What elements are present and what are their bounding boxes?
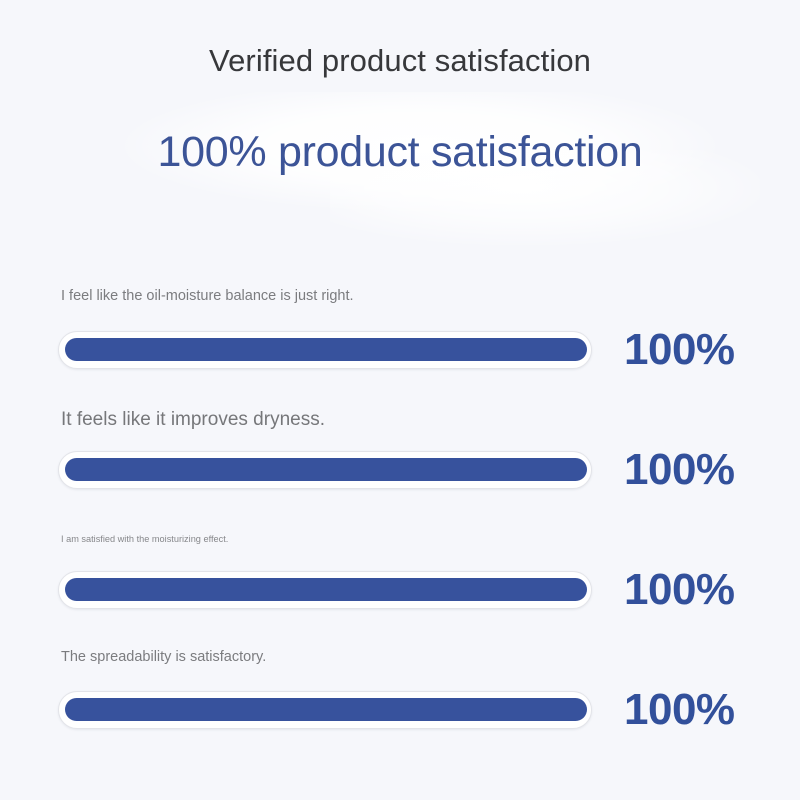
progress-fill bbox=[65, 338, 587, 361]
progress-track bbox=[58, 571, 592, 609]
bar-line: 100% bbox=[0, 568, 800, 616]
page-subtitle: 100% product satisfaction bbox=[0, 125, 800, 179]
progress-track bbox=[58, 691, 592, 729]
progress-track bbox=[58, 451, 592, 489]
satisfaction-row: I am satisfied with the moisturizing eff… bbox=[0, 528, 800, 648]
satisfaction-rows: I feel like the oil-moisture balance is … bbox=[0, 288, 800, 768]
satisfaction-infographic: Verified product satisfaction 100% produ… bbox=[0, 0, 800, 800]
satisfaction-row: It feels like it improves dryness. 100% bbox=[0, 408, 800, 528]
progress-fill bbox=[65, 578, 587, 601]
statement-label: The spreadability is satisfactory. bbox=[61, 649, 266, 665]
percent-value: 100% bbox=[624, 564, 735, 616]
percent-value: 100% bbox=[624, 684, 735, 736]
statement-label: It feels like it improves dryness. bbox=[61, 409, 325, 431]
page-title: Verified product satisfaction bbox=[0, 42, 800, 80]
statement-label: I feel like the oil-moisture balance is … bbox=[61, 288, 354, 304]
bar-line: 100% bbox=[0, 688, 800, 736]
percent-value: 100% bbox=[624, 324, 735, 376]
satisfaction-row: The spreadability is satisfactory. 100% bbox=[0, 648, 800, 768]
statement-label: I am satisfied with the moisturizing eff… bbox=[61, 534, 228, 544]
bar-line: 100% bbox=[0, 448, 800, 496]
progress-fill bbox=[65, 698, 587, 721]
satisfaction-row: I feel like the oil-moisture balance is … bbox=[0, 288, 800, 408]
bar-line: 100% bbox=[0, 328, 800, 376]
progress-track bbox=[58, 331, 592, 369]
progress-fill bbox=[65, 458, 587, 481]
percent-value: 100% bbox=[624, 444, 735, 496]
